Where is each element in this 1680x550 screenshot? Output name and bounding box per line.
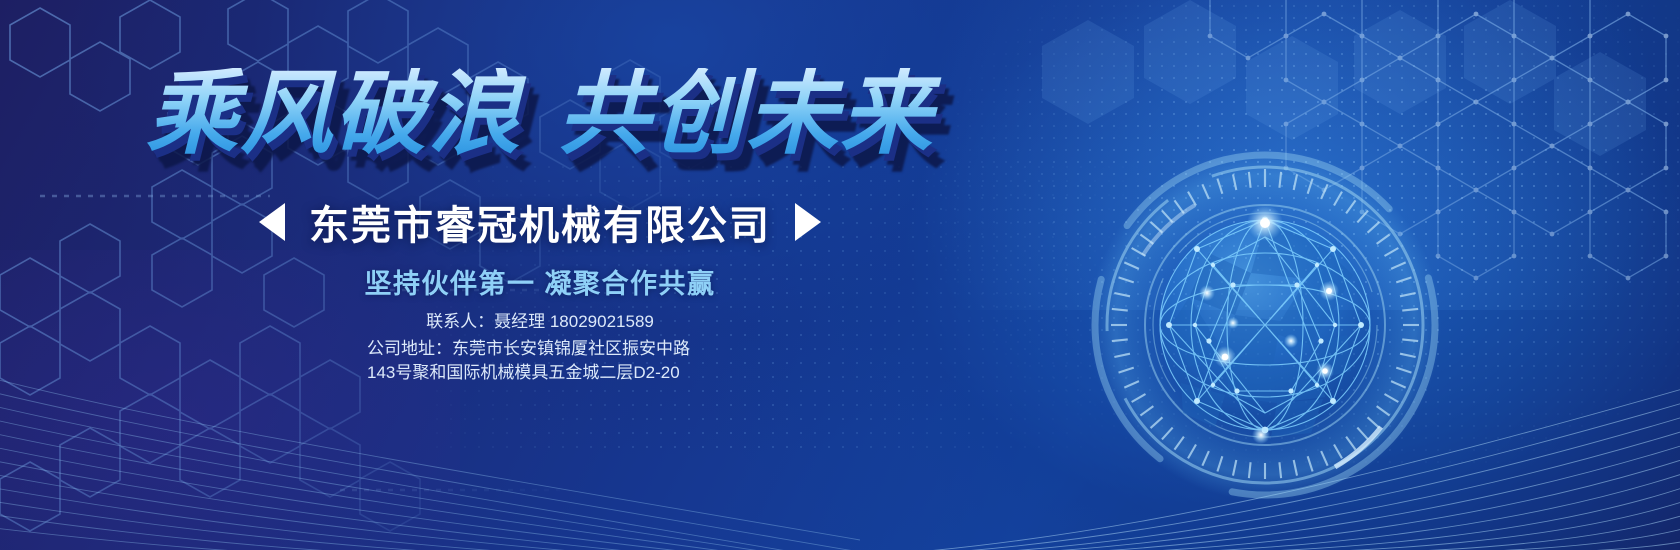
tech-globe-graphic: [1085, 145, 1445, 505]
right-triangle-icon: [795, 203, 821, 241]
contact-person-line: 联系人：聂经理 18029021589: [0, 310, 1080, 335]
left-triangle-icon: [259, 203, 285, 241]
company-slogan: 坚持伙伴第一 凝聚合作共赢: [0, 262, 1080, 301]
company-name: 东莞市睿冠机械有限公司: [309, 193, 771, 251]
contact-information: 联系人：聂经理 18029021589 公司地址：东莞市长安镇锦厦社区振安中路1…: [0, 310, 1080, 386]
headline-part-1: 乘风破浪: [146, 63, 522, 165]
headline-part-2: 共创未来: [558, 63, 934, 165]
promotional-banner: 乘风破浪共创未来 东莞市睿冠机械有限公司 坚持伙伴第一 凝聚合作共赢 联系人：聂…: [0, 0, 1680, 550]
banner-text-content: 乘风破浪共创未来 东莞市睿冠机械有限公司 坚持伙伴第一 凝聚合作共赢 联系人：聂…: [0, 0, 1080, 550]
banner-headline: 乘风破浪共创未来: [0, 68, 1080, 160]
company-address-line: 公司地址：东莞市长安镇锦厦社区振安中路143号聚和国际机械模具五金城二层D2-2…: [367, 337, 713, 386]
company-name-row: 东莞市睿冠机械有限公司: [0, 193, 1080, 251]
